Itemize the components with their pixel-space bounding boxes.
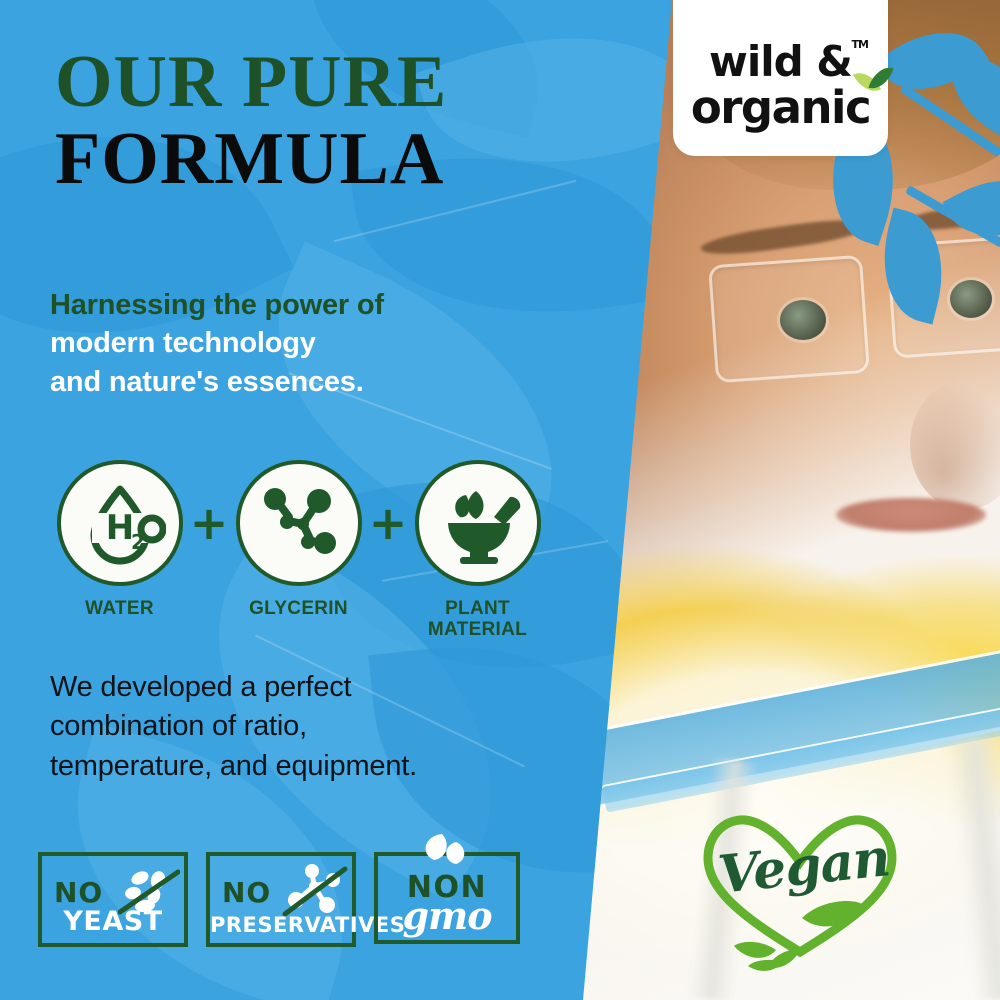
badge-word: PRESERVATIVES	[210, 913, 352, 937]
logo-text-wild-and: wild &	[709, 37, 852, 86]
subheading-line-1: Harnessing the power of	[50, 286, 550, 324]
headline-line-2: FORMULA	[55, 122, 615, 196]
badge-prefix: NO	[54, 876, 103, 909]
body-line-1: We developed a perfect	[50, 668, 540, 707]
certification-badges: NO YEAST NO	[38, 852, 520, 947]
ingredient-label: GLYCERIN	[249, 598, 348, 619]
badge-prefix: NO	[222, 876, 271, 909]
leaves-icon	[412, 828, 482, 868]
mortar-pestle-icon	[432, 477, 524, 569]
badge-word: gmo	[378, 893, 516, 938]
badge-word: YEAST	[42, 906, 184, 937]
ingredient-icon-circle: H 2	[57, 460, 183, 586]
ingredient-label-line-1: PLANT	[445, 598, 510, 619]
ingredient-label-line-2: MATERIAL	[428, 619, 527, 640]
body-line-3: temperature, and equipment.	[50, 747, 540, 786]
safety-glasses-lens-left	[708, 255, 870, 383]
ingredient-plant-material: PLANT MATERIAL	[410, 460, 545, 641]
infographic-canvas: wild & TM organic OUR PURE FORMULA Harne…	[0, 0, 1000, 1000]
badge-no-yeast[interactable]: NO YEAST	[38, 852, 188, 947]
lips	[836, 498, 986, 532]
svg-text:H: H	[105, 508, 133, 548]
crossed-out-molecule-icon	[282, 864, 348, 918]
badge-no-preservatives[interactable]: NO PRESERVATIVES	[206, 852, 356, 947]
logo-text-organic: organic	[691, 81, 870, 134]
ingredient-label: WATER	[85, 598, 154, 619]
brand-logo-card[interactable]: wild & TM organic	[673, 0, 888, 156]
vegan-badge[interactable]: Vegan	[690, 800, 910, 980]
ingredient-label: PLANT MATERIAL	[428, 598, 527, 641]
subheading: Harnessing the power of modern technolog…	[50, 286, 550, 401]
ingredient-icon-circle	[236, 460, 362, 586]
body-paragraph: We developed a perfect combination of ra…	[50, 668, 540, 786]
plus-separator-1: +	[187, 460, 231, 586]
page-title: OUR PURE FORMULA	[55, 48, 615, 196]
logo-line-2: organic	[691, 85, 870, 130]
body-line-2: combination of ratio,	[50, 707, 540, 746]
ingredients-row: H 2 WATER +	[52, 460, 545, 641]
ingredient-icon-circle	[415, 460, 541, 586]
subheading-line-2: modern technology	[50, 324, 550, 362]
water-drop-h2o-icon: H 2	[74, 477, 166, 569]
coat-fold	[947, 738, 1000, 1000]
headline-line-1: OUR PURE	[55, 48, 615, 116]
ingredient-glycerin: GLYCERIN	[231, 460, 366, 619]
ingredient-water: H 2 WATER	[52, 460, 187, 619]
plus-separator-2: +	[366, 460, 410, 586]
subheading-line-3: and nature's essences.	[50, 363, 550, 401]
molecule-icon	[253, 477, 345, 569]
logo-line-1: wild & TM	[709, 41, 852, 83]
badge-non-gmo[interactable]: NON gmo	[374, 852, 520, 944]
trademark-icon: TM	[852, 39, 868, 50]
nose-shadow	[910, 380, 1000, 510]
